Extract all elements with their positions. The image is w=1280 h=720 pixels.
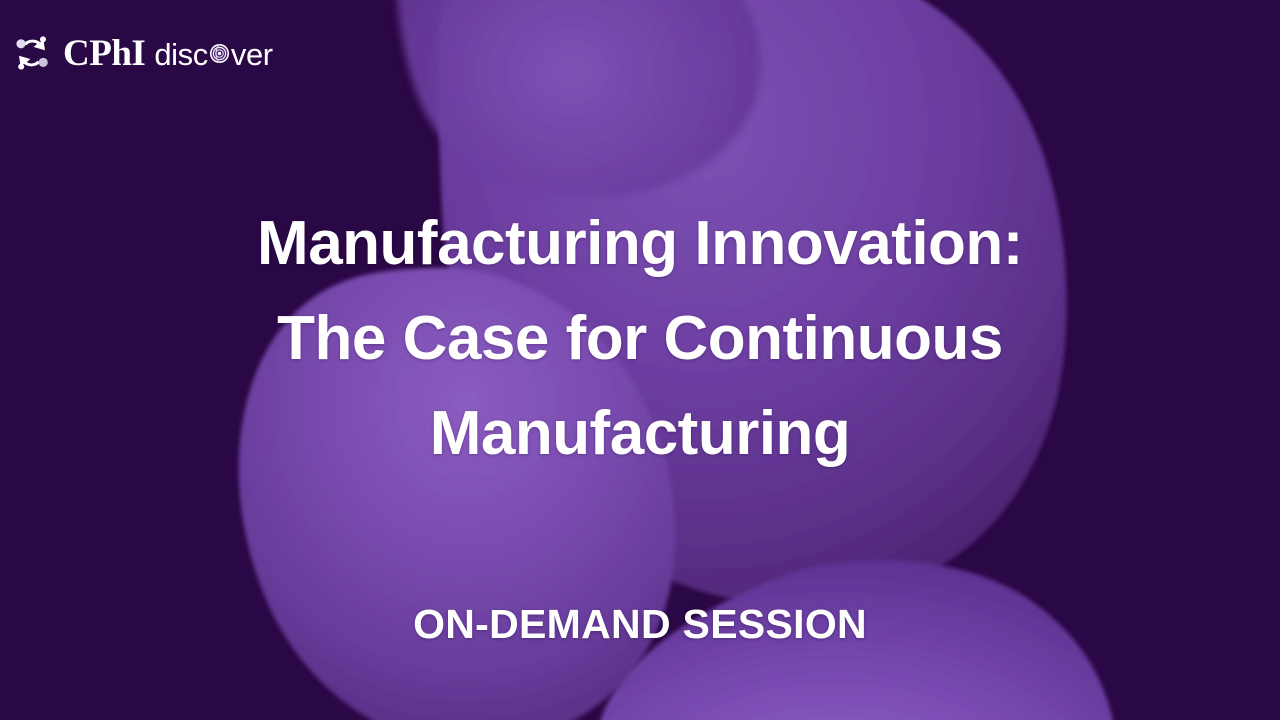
brand-discover-prefix: disc [154,39,208,70]
brand-name-cphi: CPhI [63,35,145,72]
slide-background [0,0,1280,720]
brand-name-discover: disc ver [154,39,272,70]
brand-discover-suffix: ver [231,39,273,70]
spiral-globe-icon [209,43,230,64]
brand-logo[interactable]: CPhI disc ver [10,28,280,78]
background-blob-artwork [0,0,1280,720]
brand-logo-wordmark: CPhI disc ver [63,35,273,72]
circular-arrows-icon [10,31,54,75]
